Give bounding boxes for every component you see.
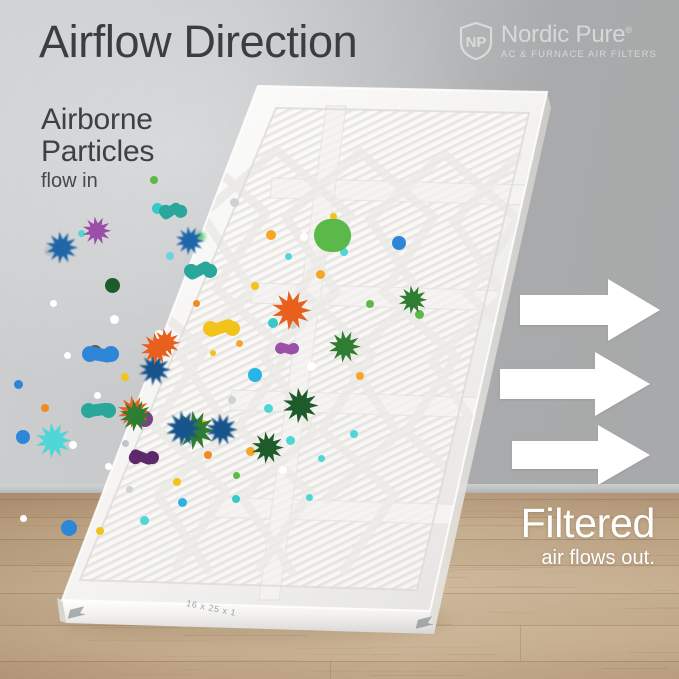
outflow-line-2: air flows out. [521,547,655,570]
particle-dot [266,230,276,240]
particle-dot [204,451,212,459]
particle-microbe [282,387,319,424]
particle-dot [279,466,287,474]
particle-dot [230,198,239,207]
outflow-line-1: Filtered [521,503,655,544]
particle-dot [318,455,325,462]
particle-microbe [45,231,78,264]
particle-dot [286,436,295,445]
particle-dot [264,404,273,413]
particle-dot [14,380,23,389]
particle-dot [122,440,129,447]
particle-microbe [175,226,205,256]
particle-microbe [398,285,428,315]
particle-rod-end [100,402,117,419]
particle-dot [50,300,57,307]
particle-dot [350,430,358,438]
intake-line-2: Particles [41,135,154,168]
particle-microbe [251,431,284,464]
particle-dot [233,472,240,479]
infographic-canvas: Airflow Direction Airborne Particles flo… [0,0,679,679]
brand-logo: NP Nordic Pure® AC & FURNACE AIR FILTERS [459,22,657,60]
particle-microbe [328,330,361,363]
intake-line-1: Airborne [41,103,153,136]
particle-dot [285,253,292,260]
particle-microbe [119,399,152,432]
particle-dot [228,396,236,404]
particle-microbe [35,422,72,459]
particle-dot [105,278,120,293]
particle-microbe [205,413,238,446]
particle-dot [166,252,174,260]
particle-dot [105,463,112,470]
particle-dot [307,362,316,371]
particle-dot [61,520,77,536]
brand-wordmark: Nordic Pure® AC & FURNACE AIR FILTERS [501,23,657,60]
registered-mark: ® [625,25,631,35]
particle-dot [20,515,27,522]
particle-dot [232,495,240,503]
brand-name: Nordic Pure® [501,23,657,47]
outflow-label: Filtered air flows out. [521,503,655,570]
particle-dot [126,486,133,493]
particle-dot [300,233,308,241]
particle-dot [41,404,49,412]
intake-label: Airborne Particles flow in [41,104,154,192]
particle-dot [306,494,313,501]
brand-tagline: AC & FURNACE AIR FILTERS [501,50,657,60]
brand-name-text: Nordic Pure [501,21,626,48]
particle-microbe [151,328,181,358]
particle-dot [210,350,216,356]
page-title: Airflow Direction [39,18,357,65]
particle-dot [251,282,259,290]
particle-dot [110,315,119,324]
particle-dot [140,516,149,525]
particle-dot [96,527,104,535]
particle-dot [316,270,325,279]
particle-dot [178,498,187,507]
particle-dot [356,372,364,380]
particle-dot [392,236,406,250]
particle-microbe [271,290,312,331]
particle-microbe [82,216,112,246]
particle-dot [236,340,243,347]
particle-dot [173,478,181,486]
particle-dot [248,368,262,382]
intake-line-3: flow in [41,171,154,193]
airborne-particle-cloud [0,0,679,679]
particle-dot [121,373,129,381]
shield-icon: NP [459,22,493,60]
particle-dot [64,352,71,359]
brand-monogram: NP [465,34,486,51]
particle-dot [16,430,30,444]
particle-microbe [165,410,202,447]
particle-dot [193,300,200,307]
particle-dot [94,392,101,399]
particle-dot [366,300,374,308]
